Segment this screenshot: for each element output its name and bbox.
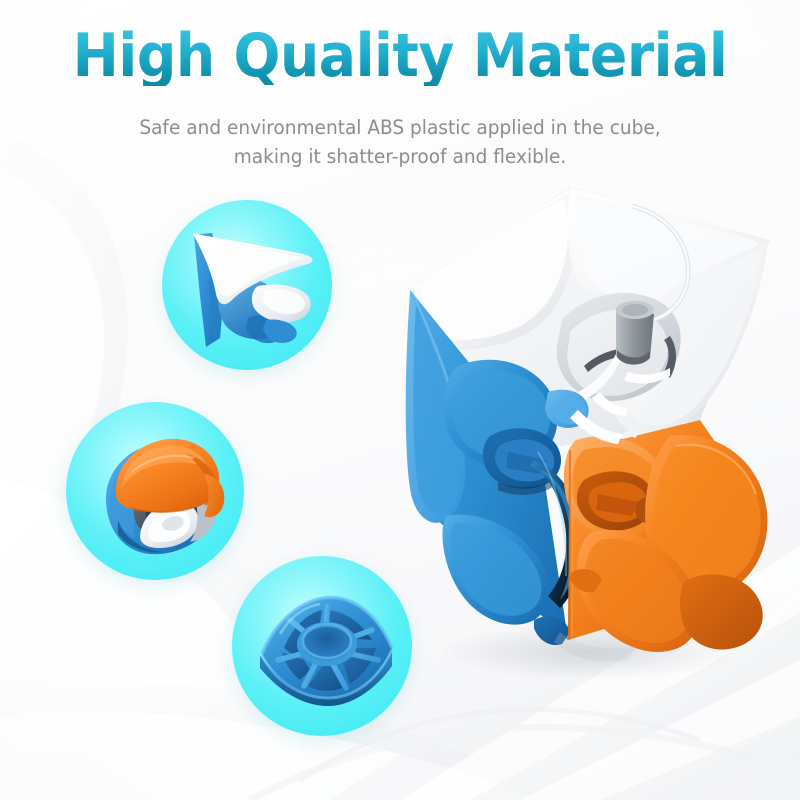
edge-piece-illustration — [66, 402, 244, 580]
product-image-windmill-cube — [370, 180, 800, 680]
corner-piece-inset — [162, 200, 332, 370]
subtitle-line-2: making it shatter-proof and flexible. — [20, 142, 780, 171]
page-title: High Quality Material — [32, 26, 768, 86]
cube-right-face — [564, 410, 768, 652]
subtitle-line-1: Safe and environmental ABS plastic appli… — [20, 113, 780, 142]
marketing-banner: High Quality Material Safe and environme… — [0, 0, 800, 800]
edge-piece-inset — [66, 402, 244, 580]
corner-piece-illustration — [162, 200, 332, 370]
cube-illustration — [370, 180, 800, 680]
center-post — [616, 301, 654, 365]
